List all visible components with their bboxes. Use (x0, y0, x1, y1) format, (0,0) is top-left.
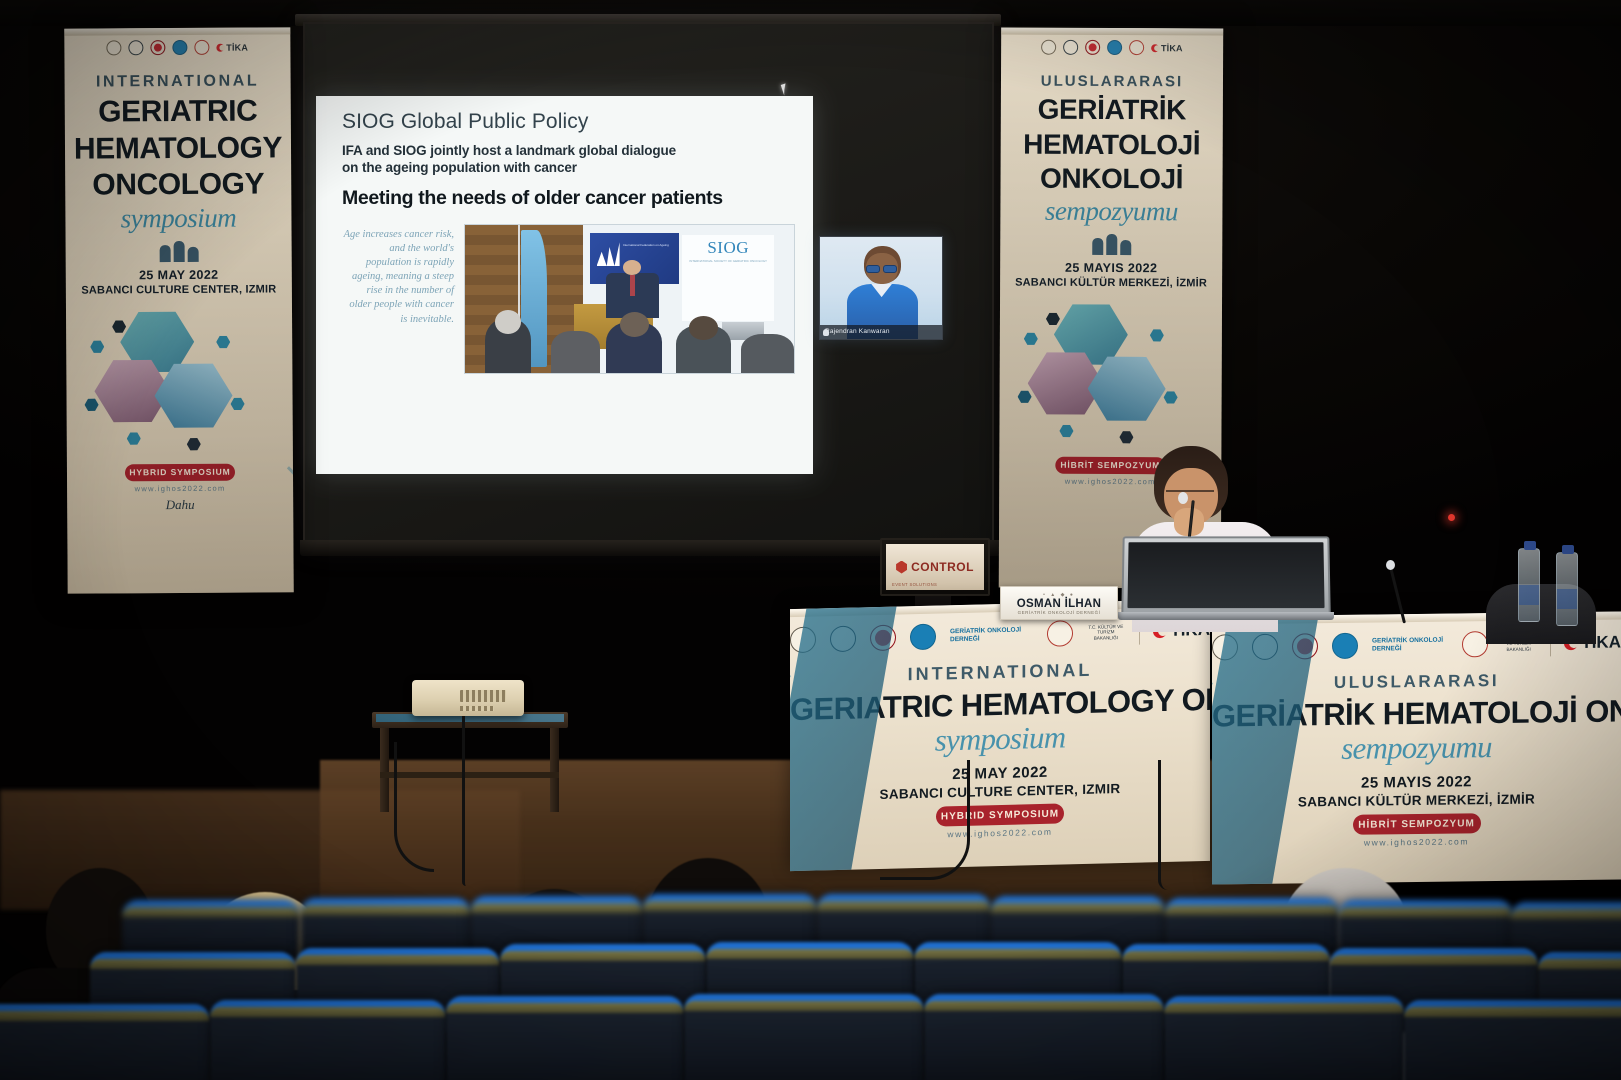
control-logo-icon (896, 561, 907, 574)
slide-pull-quote: Age increases cancer risk, and the world… (342, 224, 454, 374)
tika-logo: TİKA (217, 42, 248, 52)
table-leg (380, 728, 389, 812)
glasses-icon (1166, 490, 1214, 500)
hex-photo-clocktower (1088, 355, 1166, 423)
photo-audience-member (551, 331, 600, 372)
projector-vents (460, 690, 506, 702)
photo-audience-head (620, 312, 650, 337)
figure-icon (1106, 234, 1117, 255)
microphone-head (1178, 492, 1188, 504)
hex-dot (1150, 329, 1164, 342)
photo-audience-member (741, 334, 794, 372)
banner-eyebrow: INTERNATIONAL (65, 72, 291, 91)
sponsor-logo-society-icon (173, 40, 188, 55)
projector-ports (460, 706, 494, 711)
sponsor-logo-red-icon (151, 40, 166, 55)
microphone-icon (823, 329, 829, 336)
hex-dot (1018, 390, 1032, 403)
sponsor-logo-ministry-icon (1462, 631, 1488, 657)
auditorium-chair[interactable] (446, 996, 684, 1080)
auditorium-chair[interactable] (1404, 1000, 1621, 1080)
banner-line-3: ONKOLOJİ (1001, 165, 1223, 195)
auditorium-chair[interactable] (210, 1000, 446, 1080)
table-banner-turkish: GERİATRİK ONKOLOJİ DERNEĞİ T.C. KÜLTÜR V… (1212, 612, 1621, 885)
banner-venue: SABANCI CULTURE CENTER, IZMIR (66, 283, 292, 296)
banner-line-2: HEMATOLOJİ (1001, 130, 1223, 160)
table-banner-arc (1212, 629, 1492, 884)
banner-script-word: sempozyumu (1000, 195, 1222, 227)
photo-siog-banner: SIOG INTERNATIONAL SOCIETY OF GERIATRIC … (682, 235, 774, 321)
sponsor-logo-university-icon (1041, 40, 1056, 55)
figure-icon (187, 247, 198, 262)
siog-wordmark: SIOG (682, 238, 774, 258)
projector (412, 680, 524, 716)
hex-dot (1024, 332, 1038, 345)
banner-line-1: GERIATRIC (65, 96, 291, 128)
microphone-head (1386, 560, 1395, 570)
bottle-cap (1562, 545, 1574, 554)
banner-line-2: HEMATOLOGY (65, 133, 291, 165)
laptop-screen[interactable] (1127, 542, 1324, 608)
banner-sponsor-logos: TİKA (1001, 28, 1223, 60)
bottle-label (1519, 585, 1539, 605)
banner-arc-decoration (64, 422, 293, 594)
hex-dot (231, 397, 245, 410)
auditorium-chair[interactable] (684, 994, 924, 1080)
siog-subtitle: INTERNATIONAL SOCIETY OF GERIATRIC ONCOL… (682, 259, 774, 263)
control-tagline: EVENT SOLUTIONS (892, 582, 937, 587)
slide-body: Age increases cancer risk, and the world… (342, 224, 795, 374)
figure-icon (1092, 238, 1103, 255)
banner-figures-illustration (1000, 230, 1222, 255)
crescent-icon (217, 43, 225, 51)
banner-eyebrow: ULUSLARARASI (1001, 73, 1223, 91)
sponsor-logo-society-icon (1107, 40, 1122, 55)
panelist-body (1486, 584, 1596, 644)
auditorium-chair[interactable] (924, 994, 1164, 1080)
nameplate-name: OSMAN İLHAN (1017, 598, 1101, 610)
slide-headline: Meeting the needs of older cancer patien… (342, 187, 795, 210)
hex-dot (85, 398, 99, 411)
control-brand-label: CONTROL (911, 560, 974, 574)
hex-dot (1046, 312, 1060, 325)
tika-label: TİKA (226, 42, 248, 52)
photo-audience-head (689, 316, 719, 340)
video-name-label: Rajendran Kanwaran (820, 325, 942, 339)
glasses-right-lens-icon (883, 265, 896, 273)
hex-dot (1164, 391, 1178, 404)
panelist-background (1486, 560, 1596, 640)
figure-icon (173, 241, 184, 262)
sponsor-logo-university-icon (107, 40, 122, 55)
conference-hall-photo: SIOG Global Public Policy IFA and SIOG j… (0, 0, 1621, 1080)
tika-label: TİKA (1161, 43, 1183, 53)
table-leg (550, 728, 559, 812)
bottle-label (1557, 589, 1577, 609)
sponsor-logo-institute-icon (1063, 40, 1078, 55)
control-monitor-screen: CONTROL EVENT SOLUTIONS (886, 544, 984, 590)
nameplate-affiliation: GERİATRİK ONKOLOJİ DERNEĞİ (1018, 610, 1101, 615)
presentation-slide: SIOG Global Public Policy IFA and SIOG j… (316, 96, 813, 474)
sponsor-logo-institute-icon (129, 40, 144, 55)
slide-title: SIOG Global Public Policy (342, 110, 795, 134)
banner-venue: SABANCI KÜLTÜR MERKEZİ, İZMİR (1000, 276, 1222, 289)
figure-icon (159, 245, 170, 262)
sponsor-logo-ministry-icon (1129, 40, 1144, 55)
photo-speaker-head (623, 260, 641, 275)
figure-icon (1120, 240, 1131, 255)
hex-dot (90, 340, 104, 353)
tika-logo: TİKA (1151, 43, 1182, 53)
glasses-left-lens-icon (866, 265, 879, 273)
sponsor-logo-ministry-icon (1047, 620, 1073, 647)
banner-sponsor-logos: TİKA (64, 27, 290, 59)
photo-speaker-tie (630, 275, 635, 296)
nameplate: • ▲ ◆ ● OSMAN İLHAN GERİATRİK ONKOLOJİ D… (1000, 586, 1118, 620)
water-bottle (1518, 548, 1540, 622)
slide-subtitle-line2: on the ageing population with cancer (342, 159, 795, 176)
laptop-lid[interactable] (1121, 536, 1330, 614)
table-banner-english: GERİATRİK ONKOLOJİ DERNEĞİ T.C. KÜLTÜR V… (790, 599, 1210, 871)
bottle-cap (1524, 541, 1536, 550)
banner-english: TİKA INTERNATIONAL GERIATRIC HEMATOLOGY … (64, 27, 293, 593)
banner-line-3: ONCOLOGY (65, 169, 291, 201)
auditorium-seating (0, 850, 1621, 1080)
banner-date: 25 MAY 2022 (66, 267, 292, 282)
sponsor-logo-red-icon (1085, 40, 1100, 55)
banner-date: 25 MAYIS 2022 (1000, 260, 1222, 275)
ifa-logo-label: International Federation on Ageing (623, 244, 669, 248)
ministry-logo-label: T.C. KÜLTÜR VE TURİZM BAKANLIĞI (1087, 624, 1124, 641)
hex-dot (216, 335, 230, 348)
banner-figures-illustration (66, 237, 292, 262)
banner-line-1: GERİATRİK (1001, 96, 1223, 126)
video-call-tile[interactable]: Rajendran Kanwaran (819, 236, 943, 340)
slide-photo: International Federation on Ageing SIOG … (464, 224, 795, 374)
water-bottle (1556, 552, 1578, 626)
photo-audience-head (495, 310, 521, 334)
auditorium-chair[interactable] (0, 1004, 210, 1080)
crescent-icon (1151, 44, 1159, 52)
auditorium-chair[interactable] (1164, 996, 1404, 1080)
hex-dot (112, 320, 126, 333)
laptop-base (1118, 612, 1334, 620)
slide-subtitle-line1: IFA and SIOG jointly host a landmark glo… (342, 142, 795, 159)
sponsor-logo-ministry-icon (195, 40, 210, 55)
control-monitor[interactable]: CONTROL EVENT SOLUTIONS (880, 538, 990, 596)
status-led-icon (1448, 514, 1455, 521)
banner-script-word: symposium (65, 202, 291, 234)
